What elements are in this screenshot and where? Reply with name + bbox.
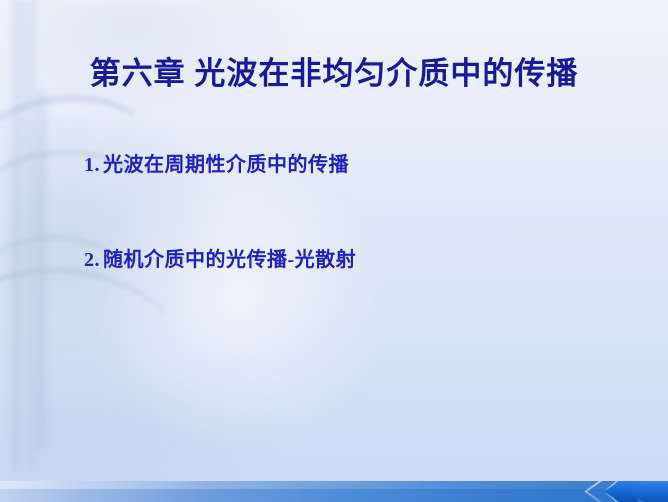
background-haze-bottom-icon: [0, 330, 300, 500]
tree-trunk-secondary-watermark-icon: [34, 90, 50, 450]
bullet-item-2: 2.随机介质中的光传播-光散射: [84, 243, 644, 272]
bullet-item-2-number: 2.: [84, 249, 100, 271]
footer-bar-sheen-icon: [0, 481, 668, 489]
bullet-item-1: 1.光波在周期性介质中的传播: [84, 148, 644, 177]
presentation-slide: 第六章 光波在非均匀介质中的传播 1.光波在周期性介质中的传播 2.随机介质中的…: [0, 0, 668, 502]
slide-bullet-list: 1.光波在周期性介质中的传播 2.随机介质中的光传播-光散射: [84, 148, 644, 272]
slide-title: 第六章 光波在非均匀介质中的传播: [0, 48, 668, 93]
tree-branch-watermark-icon: [0, 256, 192, 436]
bullet-item-1-number: 1.: [84, 154, 100, 176]
bullet-item-1-label: 光波在周期性介质中的传播: [103, 154, 349, 176]
bullet-item-2-label: 随机介质中的光传播-光散射: [103, 249, 356, 271]
